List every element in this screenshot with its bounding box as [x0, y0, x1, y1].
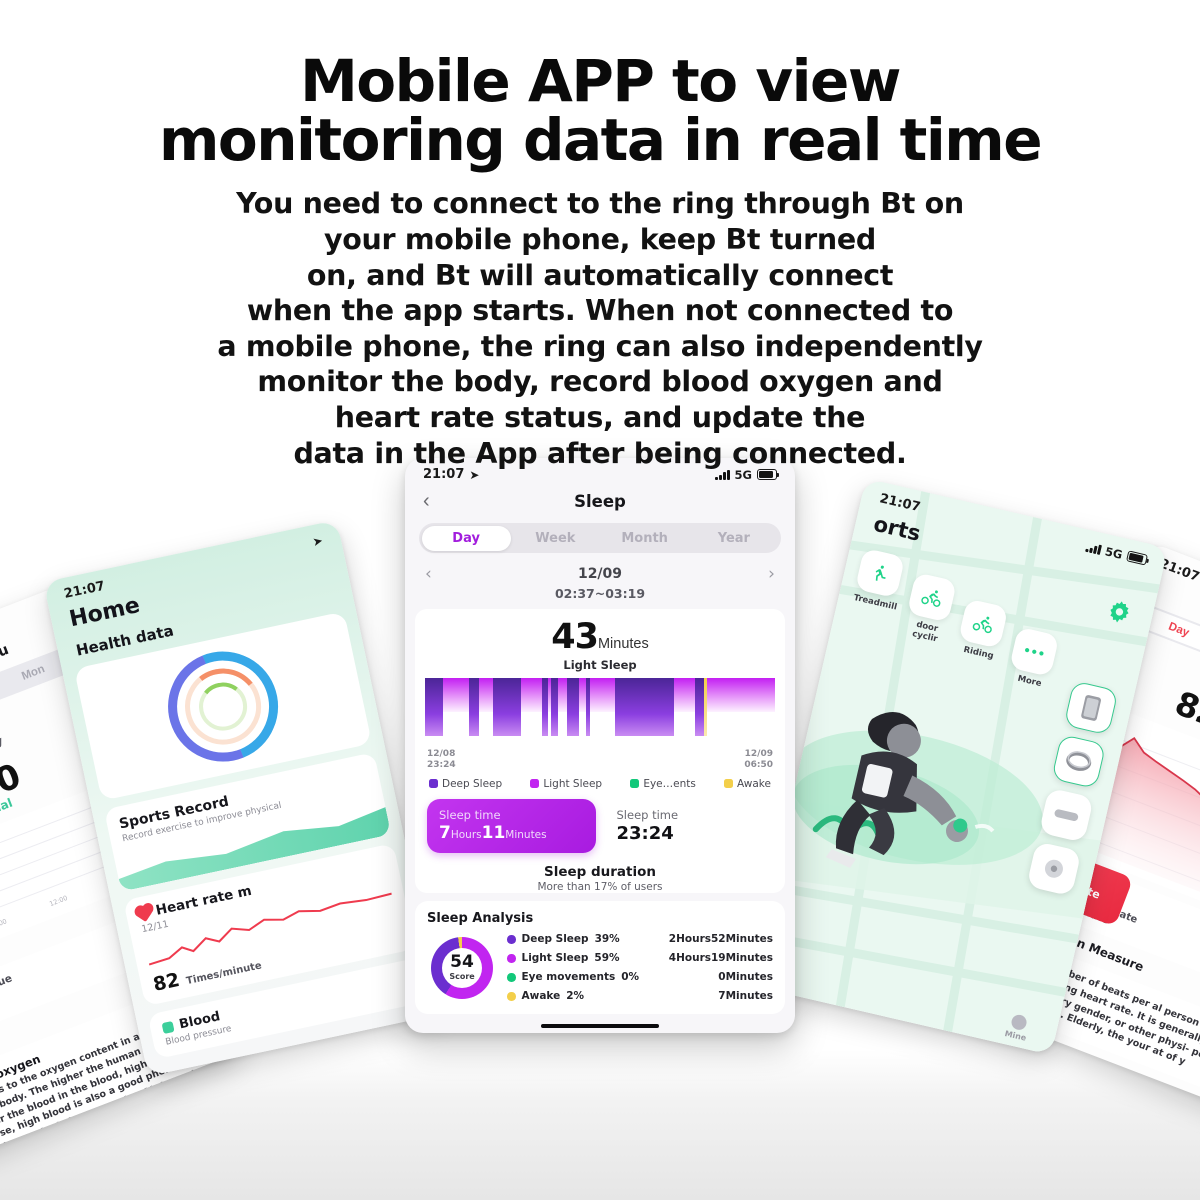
- tile-hours: 7: [439, 823, 451, 843]
- hypnogram-segment-light: [443, 678, 469, 712]
- tab-bar[interactable]: Mine: [750, 954, 1058, 1049]
- start-date: 12/08: [427, 749, 455, 759]
- description-line: your mobile phone, keep Bt turned: [0, 222, 1200, 258]
- analysis-row: Awake 2% 7Minutes: [507, 987, 773, 1006]
- heart-icon: [136, 905, 152, 921]
- sleep-score-donut: 54 Score: [431, 937, 493, 999]
- page-title: Mobile APP to view monitoring data in re…: [0, 52, 1200, 170]
- end-date: 12/09: [745, 749, 773, 759]
- score-label: Score: [449, 972, 474, 981]
- highlight-stage: Light Sleep: [415, 658, 785, 672]
- riding-icon: [958, 598, 1008, 648]
- analysis-row: Deep Sleep 39% 2Hours52Minutes: [507, 930, 773, 949]
- hypnogram-segment-light: [579, 678, 586, 712]
- activity-rings: [158, 641, 288, 771]
- hypnogram-start: 12/08 23:24: [427, 749, 456, 771]
- blood-drop-icon: [162, 1021, 175, 1034]
- row-percent: 39%: [595, 933, 620, 945]
- network-label: 5G: [1104, 544, 1124, 562]
- description-line: on, and Bt will automatically connect: [0, 258, 1200, 294]
- row-name: Awake: [522, 990, 561, 1002]
- hypnogram-segment-deep: [493, 678, 521, 736]
- more-dots-icon: [1009, 627, 1059, 677]
- home-indicator: [541, 1024, 659, 1029]
- legend-label: Deep Sleep: [442, 778, 502, 790]
- nav-bar: ‹ Sleep: [405, 484, 795, 521]
- legend-item-awake: Awake: [724, 778, 771, 790]
- bedtime-tile[interactable]: Sleep time 23:24: [605, 799, 774, 853]
- activity-treadmill[interactable]: Treadmill: [852, 548, 909, 613]
- tab-week[interactable]: Week: [511, 526, 600, 551]
- legend-label: Awake: [737, 778, 771, 790]
- legend-swatch: [530, 779, 539, 788]
- hypnogram-legend: Deep Sleep Light Sleep Eye…ents Awake: [415, 771, 785, 790]
- description-line: when the app starts. When not connected …: [0, 293, 1200, 329]
- current-date: 12/09: [578, 566, 622, 582]
- phone-sleep[interactable]: 21:07 ➤ 5G ‹ Sleep Day Week Month Year: [405, 458, 795, 1033]
- x-tick-label: 06:00: [0, 917, 8, 931]
- hypnogram-bars: [425, 678, 775, 736]
- tab-day[interactable]: Day: [422, 526, 511, 551]
- highlight-value: 43: [551, 617, 598, 657]
- legend-label: Light Sleep: [543, 778, 602, 790]
- page-title: Sleep: [405, 492, 795, 511]
- description-line: monitor the body, record blood oxygen an…: [0, 364, 1200, 400]
- legend-swatch: [724, 779, 733, 788]
- phone-mockup-fan: 21:07 ‹ Blood oxygen satu Day Week Mon ‹…: [0, 440, 1200, 1080]
- start-time: 23:24: [427, 760, 456, 770]
- row-percent: 0%: [621, 971, 639, 983]
- legend-swatch: [429, 779, 438, 788]
- page-header: Mobile APP to view monitoring data in re…: [0, 52, 1200, 471]
- legend-swatch: [630, 779, 639, 788]
- heart-rate-number: 82: [151, 969, 181, 996]
- hypnogram-segment-light: [674, 678, 695, 712]
- next-day-icon[interactable]: ›: [768, 564, 775, 584]
- row-time: 7Minutes: [718, 990, 773, 1002]
- page-description: You need to connect to the ring through …: [0, 186, 1200, 471]
- sleep-summary-tiles: Sleep time 7Hours11Minutes Sleep time 23…: [415, 790, 785, 853]
- activity-label: More: [1006, 671, 1053, 691]
- tile-value: 23:24: [617, 823, 762, 844]
- prev-day-icon[interactable]: ‹: [425, 564, 432, 584]
- hypnogram-segment-deep: [469, 678, 480, 736]
- analysis-rows: Deep Sleep 39% 2Hours52Minutes Light Sle…: [507, 930, 773, 1006]
- row-dot: [507, 954, 516, 963]
- sleep-analysis-card: Sleep Analysis 54 Score Deep Sleep 39%: [415, 901, 785, 1014]
- date-navigator[interactable]: ‹ 12/09 ›: [405, 553, 795, 584]
- hypnogram-segment-deep: [551, 678, 558, 736]
- row-percent: 59%: [594, 952, 619, 964]
- period-segmented-control[interactable]: Day Week Month Year: [419, 523, 781, 553]
- legend-label: Eye…ents: [643, 778, 696, 790]
- analysis-row: Light Sleep 59% 4Hours19Minutes: [507, 949, 773, 968]
- duration-title: Sleep duration: [415, 864, 785, 880]
- tile-minutes-unit: Minutes: [505, 829, 546, 841]
- hypnogram-segment-light: [521, 678, 542, 712]
- hypnogram-segment-light: [590, 678, 615, 712]
- row-dot: [507, 935, 516, 944]
- description-line: You need to connect to the ring through …: [0, 186, 1200, 222]
- row-percent: 2%: [566, 990, 584, 1002]
- tile-label: Sleep time: [439, 808, 584, 822]
- donut-center: 54 Score: [442, 948, 482, 988]
- tile-value: 7Hours11Minutes: [439, 823, 584, 843]
- hypnogram-segment-deep: [425, 678, 443, 736]
- hypnogram-end: 12/09 06:50: [744, 749, 773, 771]
- location-arrow-icon: ➤: [311, 533, 324, 549]
- tile-hours-unit: Hours: [451, 829, 482, 841]
- row-time: 0Minutes: [718, 971, 773, 983]
- sleep-duration-summary: Sleep duration More than 17% of users: [415, 853, 785, 893]
- hypnogram-segment-light: [707, 678, 775, 712]
- analysis-title: Sleep Analysis: [427, 911, 773, 926]
- row-time: 4Hours19Minutes: [669, 952, 773, 964]
- hypnogram-segment-deep: [695, 678, 704, 736]
- tile-minutes: 11: [482, 823, 506, 843]
- row-time: 2Hours52Minutes: [669, 933, 773, 945]
- signal-bars-icon: [1085, 541, 1101, 554]
- tab-month[interactable]: Month: [600, 526, 689, 551]
- activity-label: Riding: [955, 643, 1002, 663]
- legend-item-eye: Eye…ents: [630, 778, 696, 790]
- activity-indoor-cycling[interactable]: door cyclir: [901, 572, 961, 647]
- legend-item-deep: Deep Sleep: [429, 778, 502, 790]
- hypnogram-segment-deep: [615, 678, 675, 736]
- tile-label: Sleep time: [617, 808, 762, 822]
- sleep-duration-tile[interactable]: Sleep time 7Hours11Minutes: [427, 799, 596, 853]
- activity-label: door cyclir: [901, 617, 950, 647]
- tab-mine[interactable]: Mine: [1004, 1012, 1031, 1042]
- x-tick-label: 12:00: [48, 894, 68, 908]
- legend-item-light: Light Sleep: [530, 778, 602, 790]
- duration-subtitle: More than 17% of users: [415, 881, 785, 893]
- row-dot: [507, 973, 516, 982]
- activity-more[interactable]: More: [1006, 627, 1063, 692]
- battery-icon: [1126, 551, 1148, 566]
- headline-line-1: Mobile APP to view: [0, 52, 1200, 111]
- end-time: 06:50: [744, 760, 773, 770]
- hypnogram[interactable]: [425, 678, 775, 746]
- highlight-unit: Minutes: [598, 636, 649, 652]
- description-line: data in the App after being connected.: [0, 436, 1200, 472]
- treadmill-icon: [855, 548, 905, 598]
- row-name: Eye movements: [522, 971, 616, 983]
- row-name: Light Sleep: [522, 952, 589, 964]
- tab-year[interactable]: Year: [689, 526, 778, 551]
- description-line: a mobile phone, the ring can also indepe…: [0, 329, 1200, 365]
- hypnogram-segment-deep: [567, 678, 579, 736]
- headline-line-2: monitoring data in real time: [0, 111, 1200, 170]
- activity-riding[interactable]: Riding: [955, 598, 1012, 663]
- indoor-cycling-icon: [907, 572, 957, 622]
- person-icon: [1010, 1013, 1028, 1031]
- tab-label: Mine: [1004, 1029, 1027, 1043]
- heart-rate-value: 82: [1170, 683, 1200, 735]
- hypnogram-segment-light: [558, 678, 567, 712]
- sub-range-label: 02:37~03:19: [405, 586, 795, 601]
- activity-label: Treadmill: [852, 593, 899, 613]
- description-line: heart rate status, and update the: [0, 400, 1200, 436]
- analysis-row: Eye movements 0% 0Minutes: [507, 968, 773, 987]
- score-value: 54: [450, 954, 474, 971]
- row-name: Deep Sleep: [522, 933, 589, 945]
- highlight-block: 43Minutes: [415, 609, 785, 657]
- hypnogram-axis: 12/08 23:24 12/09 06:50: [415, 746, 785, 771]
- hypnogram-card: 43Minutes Light Sleep 12/08 23:24 12/09 …: [415, 609, 785, 893]
- row-dot: [507, 992, 516, 1001]
- analysis-body: 54 Score Deep Sleep 39% 2Hours52Minutes: [427, 930, 773, 1006]
- hypnogram-segment-light: [479, 678, 493, 712]
- heart-rate-unit: Times/minute: [185, 960, 262, 987]
